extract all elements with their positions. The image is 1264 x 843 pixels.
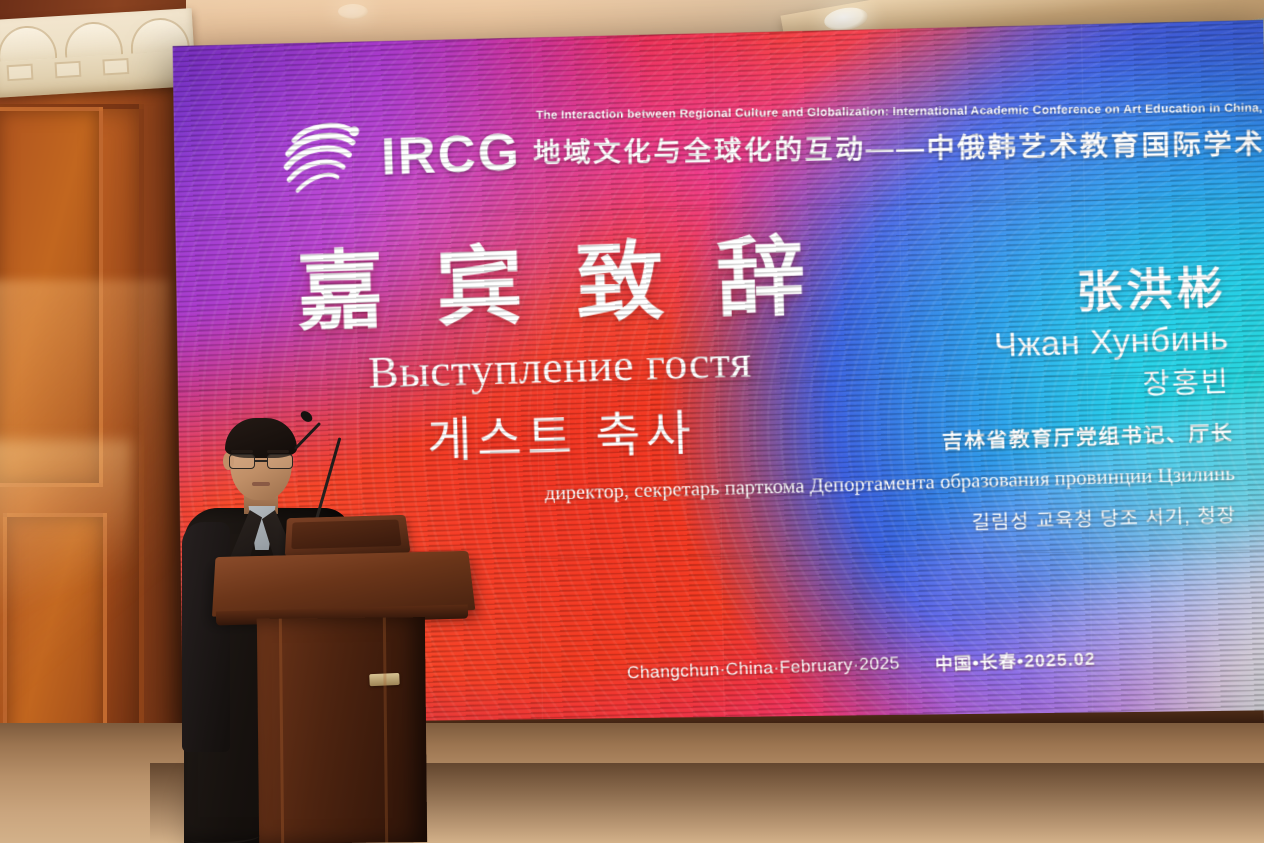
podium-emblem [369,673,400,686]
slide-footer: Changchun·China·February·2025 中国•长春•2025… [626,635,1248,688]
brand-wordmark: IRCG [380,122,522,188]
podium-column [257,617,427,843]
ceiling-downlight-icon [338,4,368,19]
ircg-globe-swoosh-icon [281,118,370,199]
door-panel-upper [0,107,103,487]
speaker-eyebrow [231,450,253,453]
footer-location-date-english: Changchun·China·February·2025 [627,653,901,683]
podium [214,512,476,843]
conference-subtitle-english: The Interaction between Regional Culture… [536,102,1249,121]
eyeglasses-icon [229,454,293,469]
speaker-role-russian: директор, секретарь парткома Депортамент… [421,462,1236,509]
decorative-cornice [0,8,196,98]
slide-header: IRCG The Interaction between Regional Cu… [281,83,1239,215]
speaker-eyebrow [267,450,289,453]
wooden-door [0,104,144,776]
floor-cable [190,828,261,843]
speaker-mouth [252,482,270,486]
speaker-role-korean: 길림성 교육청 당조 서기, 청장 [422,500,1237,550]
footer-location-date-chinese: 中国•长春•2025.02 [934,644,1095,675]
conference-subtitle-chinese: 地域文化与全球化的互动——中俄韩艺术教育国际学术会议 [533,122,1257,171]
podium-screen-inner [291,520,401,550]
conference-hall-scene: IRCG The Interaction between Regional Cu… [0,0,1264,843]
speaker-name-group: 张洪彬 Чжан Хунбинь 장홍빈 [738,251,1231,415]
speaker-role-group: 吉林省教育厅党组书记、厅长 директор, секретарь партко… [419,416,1236,550]
left-wall [0,0,186,843]
